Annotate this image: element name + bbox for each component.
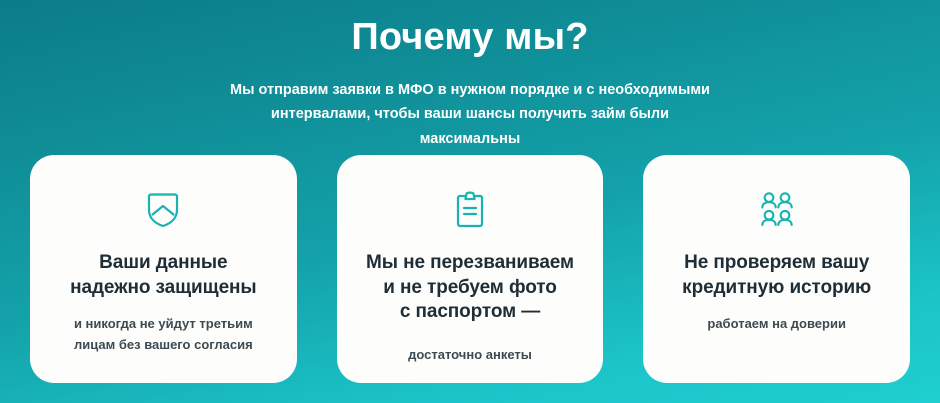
card-desc-line: лицам без вашего согласия: [74, 334, 253, 355]
card-title-line: с паспортом —: [366, 300, 574, 325]
card-title: Мы не перезваниваем и не требуем фото с …: [366, 251, 574, 325]
page-subtitle: Мы отправим заявки в МФО в нужном порядк…: [220, 78, 720, 153]
card-title-line: Не проверяем вашу: [682, 251, 871, 276]
card-desc-line: достаточно анкеты: [408, 344, 532, 365]
feature-card-list: Ваши данные надежно защищены и никогда н…: [30, 155, 910, 383]
feature-card-no-credit-check: Не проверяем вашу кредитную историю рабо…: [643, 155, 910, 383]
card-title-line: надежно защищены: [70, 276, 256, 301]
card-title: Ваши данные надежно защищены: [70, 251, 256, 300]
why-us-section: Почему мы? Мы отправим заявки в МФО в ну…: [0, 0, 940, 403]
card-title: Не проверяем вашу кредитную историю: [682, 251, 871, 300]
card-title-line: Мы не перезваниваем: [366, 251, 574, 276]
card-desc-line: работаем на доверии: [707, 313, 846, 334]
feature-card-no-callback: Мы не перезваниваем и не требуем фото с …: [337, 155, 604, 383]
feature-card-data-protection: Ваши данные надежно защищены и никогда н…: [30, 155, 297, 383]
card-title-line: и не требуем фото: [366, 276, 574, 301]
people-group-icon: [757, 191, 797, 229]
card-description: достаточно анкеты: [408, 344, 532, 365]
card-title-line: кредитную историю: [682, 276, 871, 301]
page-title: Почему мы?: [0, 14, 940, 62]
card-title-line: Ваши данные: [70, 251, 256, 276]
card-description: и никогда не уйдут третьим лицам без ваш…: [74, 313, 253, 355]
card-desc-line: и никогда не уйдут третьим: [74, 313, 253, 334]
clipboard-icon: [455, 191, 485, 229]
card-description: работаем на доверии: [707, 313, 846, 334]
shield-icon: [146, 191, 180, 229]
section-heading-block: Почему мы? Мы отправим заявки в МФО в ну…: [0, 0, 940, 152]
